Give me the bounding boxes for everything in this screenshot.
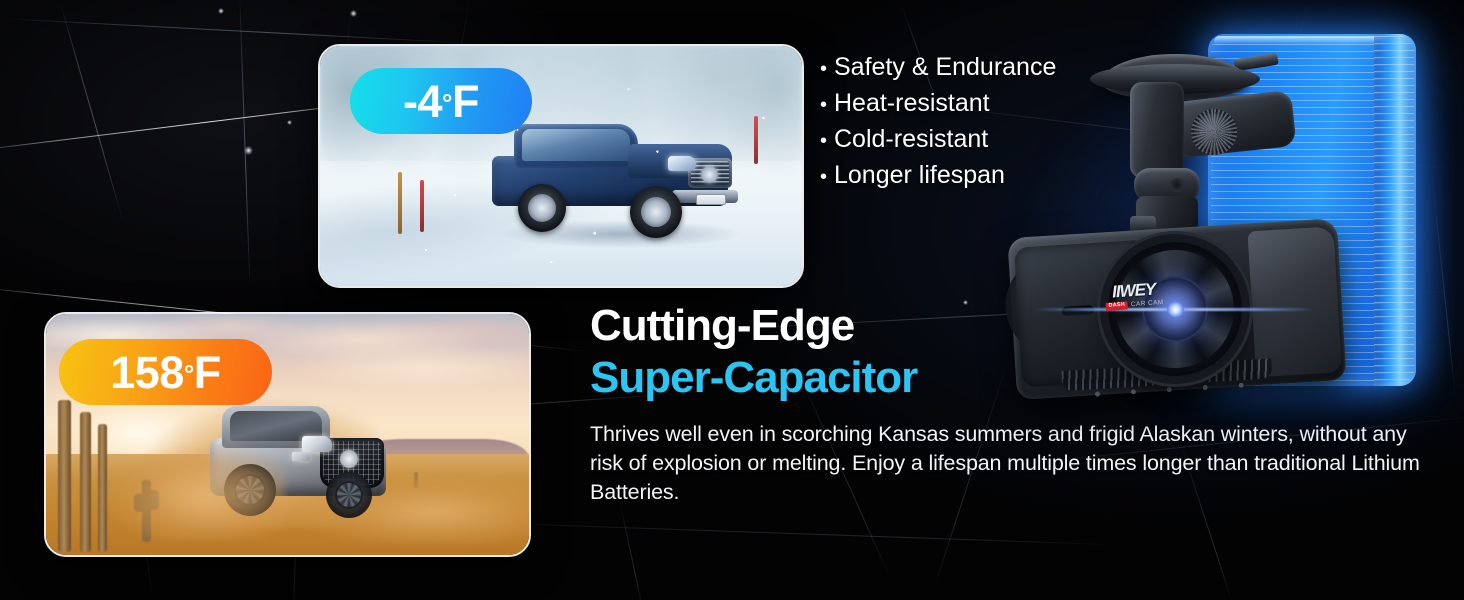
bullet-icon: • [820,162,834,192]
capacitor-edge [1374,34,1416,386]
feature-label: Heat-resistant [834,88,990,118]
hot-temp-value: 158 [110,350,184,395]
brand-logo: IIWEY DASH CAR CAM [1093,279,1175,311]
dashcam-product-image: IIWEY DASH CAR CAM [990,20,1460,420]
bullet-icon: • [820,54,834,84]
cold-temp-unit: F [452,79,479,124]
bullet-icon: • [820,126,834,156]
hot-temperature-badge: 158°F [59,339,272,405]
brand-chip-text: DASH [1105,301,1128,310]
feature-label: Longer lifespan [834,160,1005,190]
promo-banner: -4°F [0,0,1464,600]
camera-right-face [1247,226,1342,377]
card-slot [1062,305,1094,316]
cold-temp-value: -4 [403,79,442,124]
bullet-icon: • [820,90,834,120]
cold-degree-symbol: ° [442,90,452,116]
mount-adjust-knob [1194,112,1234,152]
feature-label: Cold-resistant [834,124,988,154]
camera-lens [1108,242,1242,376]
cold-weather-card: -4°F [318,44,804,288]
hot-degree-symbol: ° [184,361,194,387]
hot-temp-unit: F [194,350,221,395]
cold-temperature-badge: -4°F [350,68,532,134]
body-paragraph: Thrives well even in scorching Kansas su… [590,420,1420,507]
hot-weather-card: 158°F [44,312,531,557]
mount-arm-lower [1130,82,1184,178]
